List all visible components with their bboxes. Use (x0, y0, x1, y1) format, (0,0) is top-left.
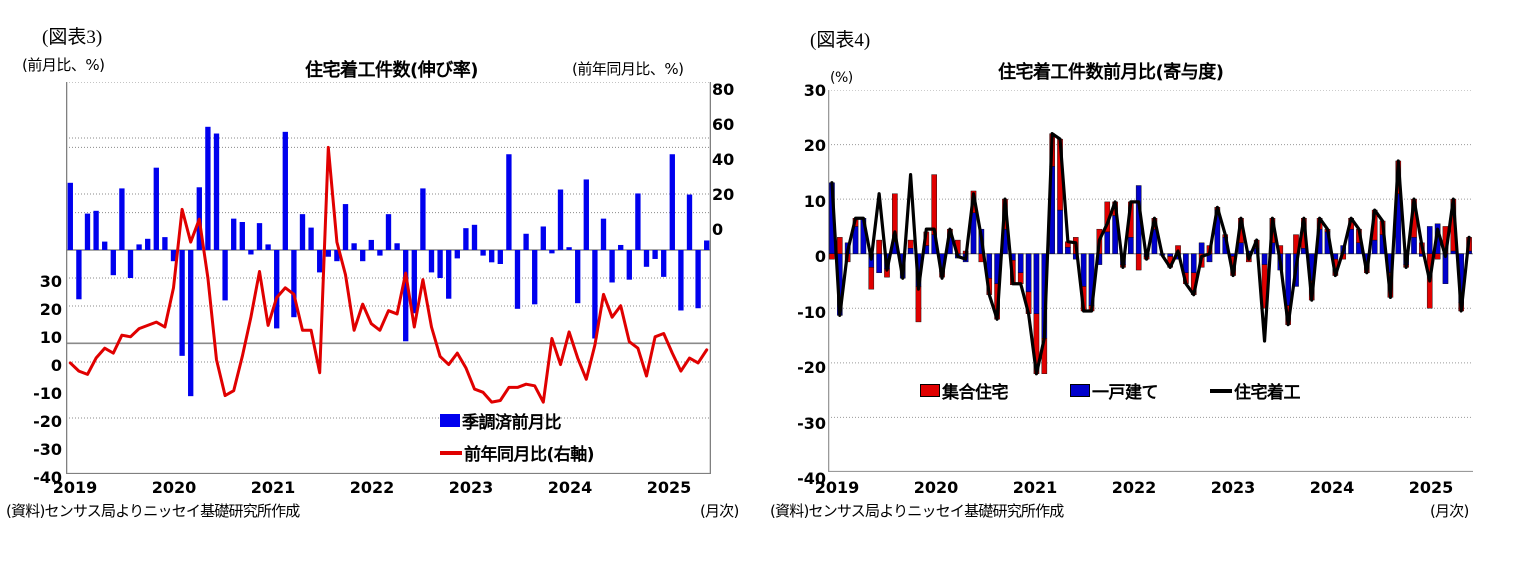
figure3-y2tick-60: 60 (712, 115, 752, 134)
figure3-xtick-2025: 2025 (638, 478, 700, 497)
figure3-legend-bar-label: 季調済前月比 (462, 408, 561, 433)
figure3-xtick-2021: 2021 (242, 478, 304, 497)
figure3-ytick-0: 0 (8, 356, 62, 375)
figure3-label: (図表3) (42, 22, 102, 49)
figure4-legend-multi: 集合住宅 (920, 378, 1008, 403)
figure3-ytick-20: 20 (8, 300, 62, 319)
figure4-ytick-20: 20 (770, 136, 826, 155)
figure4-xtick-2020: 2020 (905, 478, 967, 497)
figure3-title: 住宅着工件数(伸び率) (305, 56, 478, 82)
figure4-label: (図表4) (810, 25, 870, 52)
figure4-axis-unit: (%) (830, 70, 853, 86)
figure3-xtick-2020: 2020 (143, 478, 205, 497)
figure3-legend-bar: 季調済前月比 (440, 408, 561, 433)
figure3-y2tick-80: 80 (712, 80, 752, 99)
figure4-ytick-10: 10 (770, 192, 826, 211)
figure4-xtick-2022: 2022 (1103, 478, 1165, 497)
figure3-y2tick-40: 40 (712, 150, 752, 169)
figure3-y2tick-20: 20 (712, 185, 752, 204)
figure3-xtick-2023: 2023 (440, 478, 502, 497)
legend-swatch-singlefamily-icon (1070, 384, 1090, 397)
figure4-legend-single: 一戸建て (1070, 378, 1158, 403)
figure4-xtick-2019: 2019 (806, 478, 868, 497)
figure3-xtick-2022: 2022 (341, 478, 403, 497)
figure4-panel: (図表4) (%) 住宅着工件数前月比(寄与度) 30 20 10 0 -10 … (770, 0, 1529, 569)
legend-swatch-total-line-icon (1210, 389, 1232, 393)
figure3-footer-source: (資料)センサス局よりニッセイ基礎研究所作成 (6, 500, 300, 521)
figure3-plot-area (66, 82, 711, 474)
figure4-ytick-m30: -30 (770, 414, 826, 433)
figure3-legend-line-label: 前年同月比(右軸) (464, 440, 594, 465)
figure4-plot-area (828, 90, 1473, 472)
figure3-ytick-m20: -20 (8, 412, 62, 431)
figure3-xtick-2019: 2019 (44, 478, 106, 497)
figure4-ytick-0: 0 (770, 247, 826, 266)
legend-swatch-bar-icon (440, 414, 460, 427)
figures-page: (図表3) (前月比、%) 住宅着工件数(伸び率) (前年同月比、%) 30 2… (0, 0, 1529, 569)
figure3-right-axis-unit: (前年同月比、%) (572, 58, 683, 79)
legend-swatch-multifamily-icon (920, 384, 940, 397)
figure4-footer-source: (資料)センサス局よりニッセイ基礎研究所作成 (770, 500, 1064, 521)
figure3-panel: (図表3) (前月比、%) 住宅着工件数(伸び率) (前年同月比、%) 30 2… (0, 0, 770, 569)
figure4-xtick-2021: 2021 (1004, 478, 1066, 497)
figure4-svg (828, 90, 1473, 472)
figure3-ytick-m30: -30 (8, 440, 62, 459)
figure4-xtick-2025: 2025 (1400, 478, 1462, 497)
figure4-legend-total: 住宅着工 (1210, 378, 1300, 403)
figure3-svg (66, 82, 711, 474)
figure4-ytick-m10: -10 (770, 303, 826, 322)
legend-swatch-line-icon (440, 451, 462, 455)
figure4-title: 住宅着工件数前月比(寄与度) (998, 58, 1223, 84)
figure3-xtick-2024: 2024 (539, 478, 601, 497)
figure4-ytick-30: 30 (770, 81, 826, 100)
figure4-ytick-m20: -20 (770, 358, 826, 377)
figure4-legend-multi-label: 集合住宅 (942, 378, 1008, 403)
figure3-legend-line: 前年同月比(右軸) (440, 440, 594, 465)
figure3-left-axis-unit: (前月比、%) (22, 54, 104, 75)
figure3-footer-frequency: (月次) (700, 500, 739, 521)
figure4-footer-frequency: (月次) (1430, 500, 1469, 521)
figure3-y2tick-0: 0 (712, 220, 752, 239)
figure3-ytick-10: 10 (8, 328, 62, 347)
figure3-ytick-m10: -10 (8, 384, 62, 403)
figure4-legend-total-label: 住宅着工 (1234, 378, 1300, 403)
figure4-xtick-2024: 2024 (1301, 478, 1363, 497)
figure4-xtick-2023: 2023 (1202, 478, 1264, 497)
figure4-legend-single-label: 一戸建て (1092, 378, 1158, 403)
figure3-ytick-30: 30 (8, 272, 62, 291)
